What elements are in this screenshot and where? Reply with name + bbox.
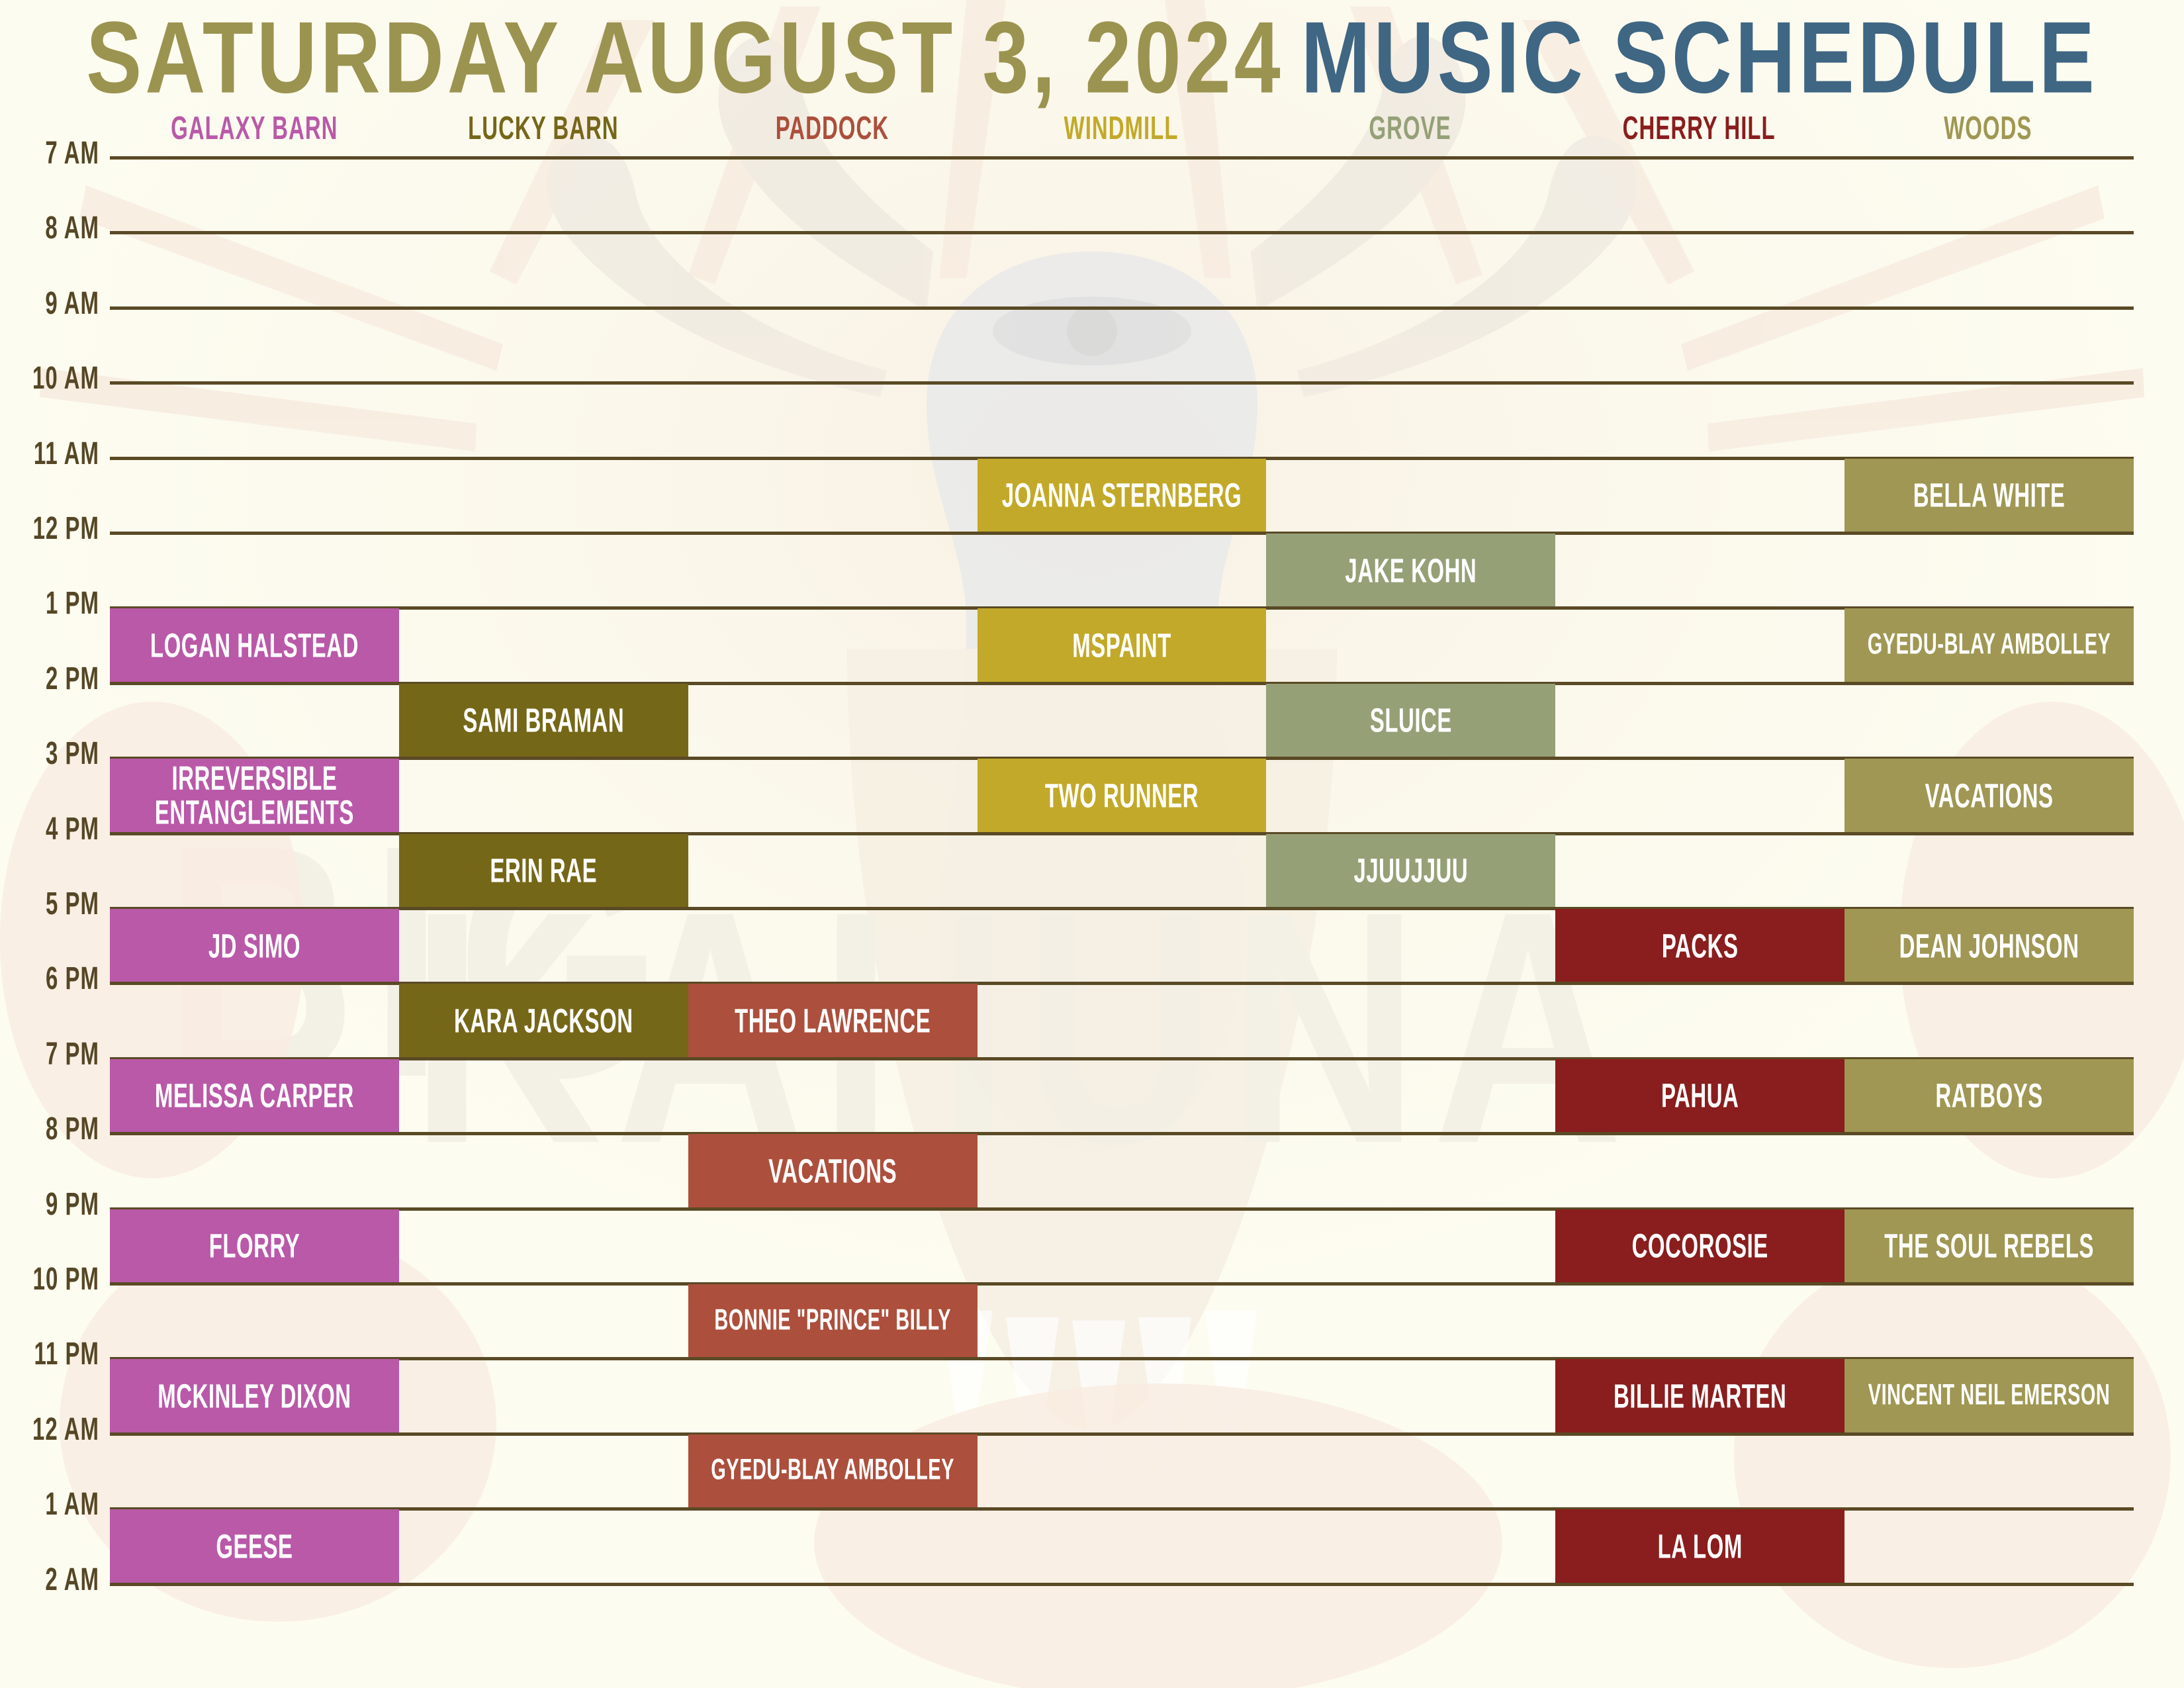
event-block[interactable]: IRREVERSIBLE ENTANGLEMENTS	[110, 759, 399, 831]
event-block[interactable]: GYEDU-BLAY AMBOLLEY	[688, 1434, 978, 1507]
stage-column-headers: GALAXY BARNLUCKY BARNPADDOCKWINDMILLGROV…	[110, 124, 2132, 155]
event-block[interactable]: LA LOM	[1555, 1509, 1844, 1582]
event-artist-name: BELLA WHITE	[1913, 478, 2066, 512]
event-artist-name: MCKINLEY DIXON	[158, 1379, 351, 1413]
event-artist-name: GEESE	[216, 1529, 293, 1563]
event-block[interactable]: VACATIONS	[688, 1134, 978, 1207]
event-block[interactable]: JOANNA STERNBERG	[978, 459, 1267, 532]
event-artist-name: SLUICE	[1370, 703, 1452, 737]
stage-header-paddock: PADDOCK	[688, 109, 977, 155]
event-artist-name: VACATIONS	[768, 1154, 897, 1188]
event-artist-name: JD SIMO	[208, 929, 300, 962]
event-block[interactable]: PACKS	[1555, 909, 1844, 982]
event-artist-name: VINCENT NEIL EMERSON	[1868, 1381, 2111, 1411]
event-block[interactable]: KARA JACKSON	[399, 984, 688, 1056]
event-block[interactable]: DEAN JOHNSON	[1844, 909, 2134, 982]
event-block[interactable]: BONNIE "PRINCE" BILLY	[688, 1284, 978, 1357]
event-block[interactable]: JAKE KOHN	[1266, 534, 1555, 606]
event-block[interactable]: FLORRY	[110, 1209, 399, 1282]
event-artist-name: DEAN JOHNSON	[1899, 929, 2079, 962]
event-artist-name: JJUUJJUU	[1353, 853, 1468, 887]
event-artist-name: THEO LAWRENCE	[735, 1004, 931, 1037]
event-artist-name: BONNIE "PRINCE" BILLY	[714, 1306, 951, 1336]
event-artist-name: COCOROSIE	[1632, 1229, 1768, 1262]
event-block[interactable]: MSPAINT	[978, 608, 1267, 681]
event-artist-name: IRREVERSIBLE ENTANGLEMENTS	[155, 761, 354, 829]
event-artist-name: ERIN RAE	[490, 853, 597, 887]
event-block[interactable]: MCKINLEY DIXON	[110, 1359, 399, 1432]
stage-header-grove: GROVE	[1265, 109, 1555, 155]
page-title: SATURDAY AUGUST 3, 2024MUSIC SCHEDULE	[0, 25, 2184, 109]
stage-header-woods: WOODS	[1843, 109, 2132, 155]
event-artist-name: LA LOM	[1658, 1529, 1743, 1563]
event-block[interactable]: ERIN RAE	[399, 834, 688, 907]
event-artist-name: KARA JACKSON	[454, 1004, 633, 1037]
event-block[interactable]: THE SOUL REBELS	[1844, 1209, 2134, 1282]
event-block[interactable]: VACATIONS	[1844, 759, 2134, 831]
event-artist-name: RATBOYS	[1935, 1078, 2042, 1112]
stage-header-windmill: WINDMILL	[977, 109, 1266, 155]
event-artist-name: MELISSA CARPER	[155, 1078, 354, 1112]
title-subject: MUSIC SCHEDULE	[1301, 7, 2098, 109]
stage-header-galaxy-barn: GALAXY BARN	[110, 109, 399, 155]
event-block[interactable]: SAMI BRAMAN	[399, 684, 688, 757]
event-artist-name: PAHUA	[1661, 1078, 1739, 1112]
event-block[interactable]: SLUICE	[1266, 684, 1555, 757]
event-block[interactable]: BELLA WHITE	[1844, 459, 2134, 532]
event-block[interactable]: COCOROSIE	[1555, 1209, 1844, 1282]
event-artist-name: GYEDU-BLAY AMBOLLEY	[1868, 630, 2111, 660]
event-artist-name: LOGAN HALSTEAD	[150, 628, 359, 662]
event-block[interactable]: VINCENT NEIL EMERSON	[1844, 1359, 2134, 1432]
event-artist-name: TWO RUNNER	[1045, 778, 1199, 812]
event-block[interactable]: BILLIE MARTEN	[1555, 1359, 1844, 1432]
event-artist-name: JAKE KOHN	[1345, 553, 1477, 587]
event-artist-name: THE SOUL REBELS	[1884, 1229, 2094, 1262]
event-block[interactable]: MELISSA CARPER	[110, 1059, 399, 1132]
event-artist-name: PACKS	[1662, 929, 1739, 962]
title-date: SATURDAY AUGUST 3, 2024	[86, 7, 1284, 109]
music-schedule-poster: BIG KAHUNA SATURDAY AUGUST 3, 2024MUSIC …	[0, 0, 2184, 1688]
event-artist-name: BILLIE MARTEN	[1614, 1379, 1786, 1413]
event-block[interactable]: LOGAN HALSTEAD	[110, 608, 399, 681]
event-artist-name: GYEDU-BLAY AMBOLLEY	[711, 1456, 954, 1486]
event-artist-name: JOANNA STERNBERG	[1002, 478, 1242, 512]
event-artist-name: VACATIONS	[1925, 778, 2054, 812]
event-block[interactable]: THEO LAWRENCE	[688, 984, 978, 1056]
event-block[interactable]: PAHUA	[1555, 1059, 1844, 1132]
event-block[interactable]: JJUUJJUU	[1266, 834, 1555, 907]
event-block[interactable]: TWO RUNNER	[978, 759, 1267, 831]
event-artist-name: FLORRY	[209, 1229, 300, 1262]
event-block[interactable]: RATBOYS	[1844, 1059, 2134, 1132]
event-artist-name: SAMI BRAMAN	[463, 703, 624, 737]
event-artist-name: MSPAINT	[1072, 628, 1171, 662]
schedule-event-blocks: JOANNA STERNBERGBELLA WHITEJAKE KOHNLOGA…	[0, 156, 2184, 1586]
event-block[interactable]: GYEDU-BLAY AMBOLLEY	[1844, 608, 2134, 681]
stage-header-cherry-hill: CHERRY HILL	[1555, 109, 1844, 155]
stage-header-lucky-barn: LUCKY BARN	[399, 109, 688, 155]
event-block[interactable]: JD SIMO	[110, 909, 399, 982]
event-block[interactable]: GEESE	[110, 1509, 399, 1582]
